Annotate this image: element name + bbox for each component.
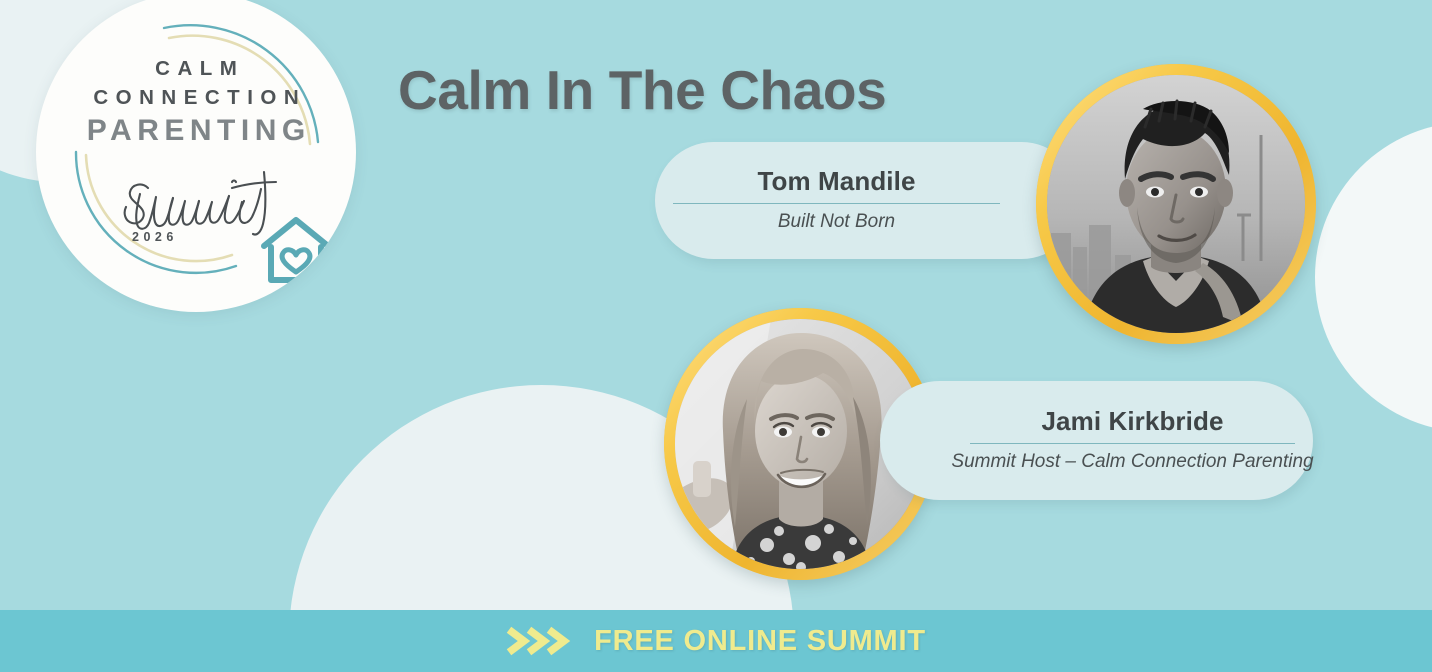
speaker-role: Built Not Born bbox=[778, 211, 895, 234]
logo-line-connection: CONNECTION bbox=[36, 83, 356, 112]
speaker-role: Summit Host – Calm Connection Parenting bbox=[951, 451, 1313, 474]
avatar-photo-tom bbox=[1047, 75, 1305, 333]
logo-wordmark: CALM CONNECTION PARENTING bbox=[36, 54, 356, 151]
card-divider bbox=[673, 203, 1000, 204]
card-divider bbox=[970, 443, 1295, 444]
speaker-avatar-tom-mandile[interactable] bbox=[1036, 64, 1316, 344]
banner-label: FREE ONLINE SUMMIT bbox=[594, 625, 926, 658]
speaker-card-jami-kirkbride[interactable]: Jami Kirkbride Summit Host – Calm Connec… bbox=[880, 381, 1313, 500]
page-title: Calm In The Chaos bbox=[398, 58, 886, 122]
triple-chevron-right-icon bbox=[506, 626, 578, 656]
logo-year: 2026 bbox=[132, 230, 178, 244]
house-heart-icon bbox=[258, 214, 334, 286]
summit-logo-badge[interactable]: CALM CONNECTION PARENTING 2026 bbox=[36, 0, 356, 312]
portrait-illustration-man bbox=[1047, 75, 1305, 333]
speaker-name: Tom Mandile bbox=[757, 167, 915, 196]
speaker-card-content: Tom Mandile Built Not Born bbox=[655, 142, 1018, 259]
speaker-card-tom-mandile[interactable]: Tom Mandile Built Not Born bbox=[655, 142, 1080, 259]
logo-line-calm: CALM bbox=[36, 54, 356, 83]
promo-banner-stage: CALM CONNECTION PARENTING 2026 bbox=[0, 0, 1432, 672]
speaker-name: Jami Kirkbride bbox=[1041, 407, 1223, 436]
decorative-circle-right bbox=[1315, 122, 1432, 432]
speaker-card-content: Jami Kirkbride Summit Host – Calm Connec… bbox=[952, 381, 1313, 500]
free-online-summit-banner[interactable]: FREE ONLINE SUMMIT bbox=[0, 610, 1432, 672]
